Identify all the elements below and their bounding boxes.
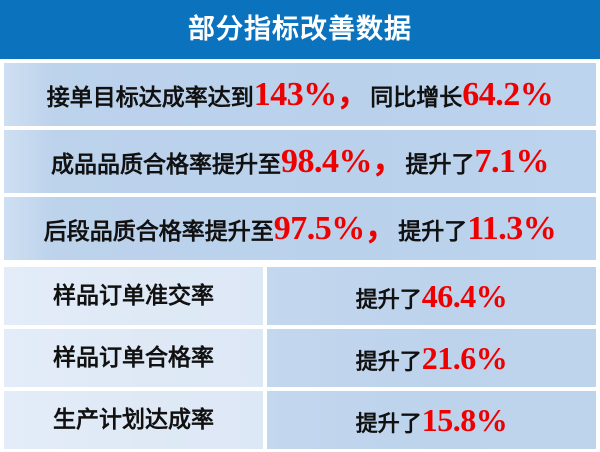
statement-row: 成品品质合格率提升至98.4%，提升了7.1%	[4, 130, 596, 193]
metric-label: 生产计划达成率	[53, 409, 214, 432]
metric-value-cell: 提升了46.4%	[267, 267, 596, 325]
header-bar: 部分指标改善数据	[0, 0, 600, 59]
metric-label: 样品订单准交率	[53, 285, 214, 308]
metric-value-prefix: 提升了	[356, 412, 422, 437]
metric-label-cell: 生产计划达成率	[4, 391, 263, 449]
page-title: 部分指标改善数据	[188, 16, 412, 43]
metric-value-text: 提升了46.4%	[356, 280, 508, 312]
metric-label: 样品订单合格率	[53, 347, 214, 370]
improvement-metrics-infographic: 部分指标改善数据 接单目标达成率达到143%，同比增长64.2% 成品品质合格率…	[0, 0, 600, 452]
metric-value-text: 提升了15.8%	[356, 404, 508, 436]
metric-row: 样品订单合格率 提升了21.6%	[4, 329, 596, 387]
statement-value-primary: 98.4%，	[281, 143, 406, 180]
statement-middle: 提升了	[406, 152, 475, 178]
metric-value-cell: 提升了21.6%	[267, 329, 596, 387]
statement-value-secondary: 7.1%	[475, 143, 550, 180]
statement-prefix: 成品品质合格率提升至	[51, 152, 281, 178]
metric-value: 21.6%	[422, 340, 508, 376]
statement-value-secondary: 64.2%	[462, 76, 553, 113]
statement-value-primary: 143%，	[254, 76, 371, 113]
statement-text: 后段品质合格率提升至97.5%，提升了11.3%	[44, 212, 557, 246]
metric-label-cell: 样品订单准交率	[4, 267, 263, 325]
statement-text: 成品品质合格率提升至98.4%，提升了7.1%	[51, 145, 549, 179]
statement-value-secondary: 11.3%	[467, 210, 556, 247]
metric-row: 生产计划达成率 提升了15.8%	[4, 391, 596, 449]
metric-value-prefix: 提升了	[356, 288, 422, 313]
metric-value-text: 提升了21.6%	[356, 342, 508, 374]
metric-label-cell: 样品订单合格率	[4, 329, 263, 387]
metric-value: 15.8%	[422, 402, 508, 438]
statement-middle: 提升了	[398, 219, 467, 245]
statement-row: 后段品质合格率提升至97.5%，提升了11.3%	[4, 197, 596, 260]
metric-value-prefix: 提升了	[356, 350, 422, 375]
metrics-body: 接单目标达成率达到143%，同比增长64.2% 成品品质合格率提升至98.4%，…	[0, 59, 600, 452]
statement-value-primary: 97.5%，	[274, 210, 399, 247]
metric-value-cell: 提升了15.8%	[267, 391, 596, 449]
metric-value: 46.4%	[422, 278, 508, 314]
statement-middle: 同比增长	[370, 85, 462, 111]
metric-row: 样品订单准交率 提升了46.4%	[4, 267, 596, 325]
statement-row: 接单目标达成率达到143%，同比增长64.2%	[4, 63, 596, 126]
statement-prefix: 后段品质合格率提升至	[44, 219, 274, 245]
statement-prefix: 接单目标达成率达到	[47, 85, 254, 111]
statement-text: 接单目标达成率达到143%，同比增长64.2%	[47, 78, 554, 112]
